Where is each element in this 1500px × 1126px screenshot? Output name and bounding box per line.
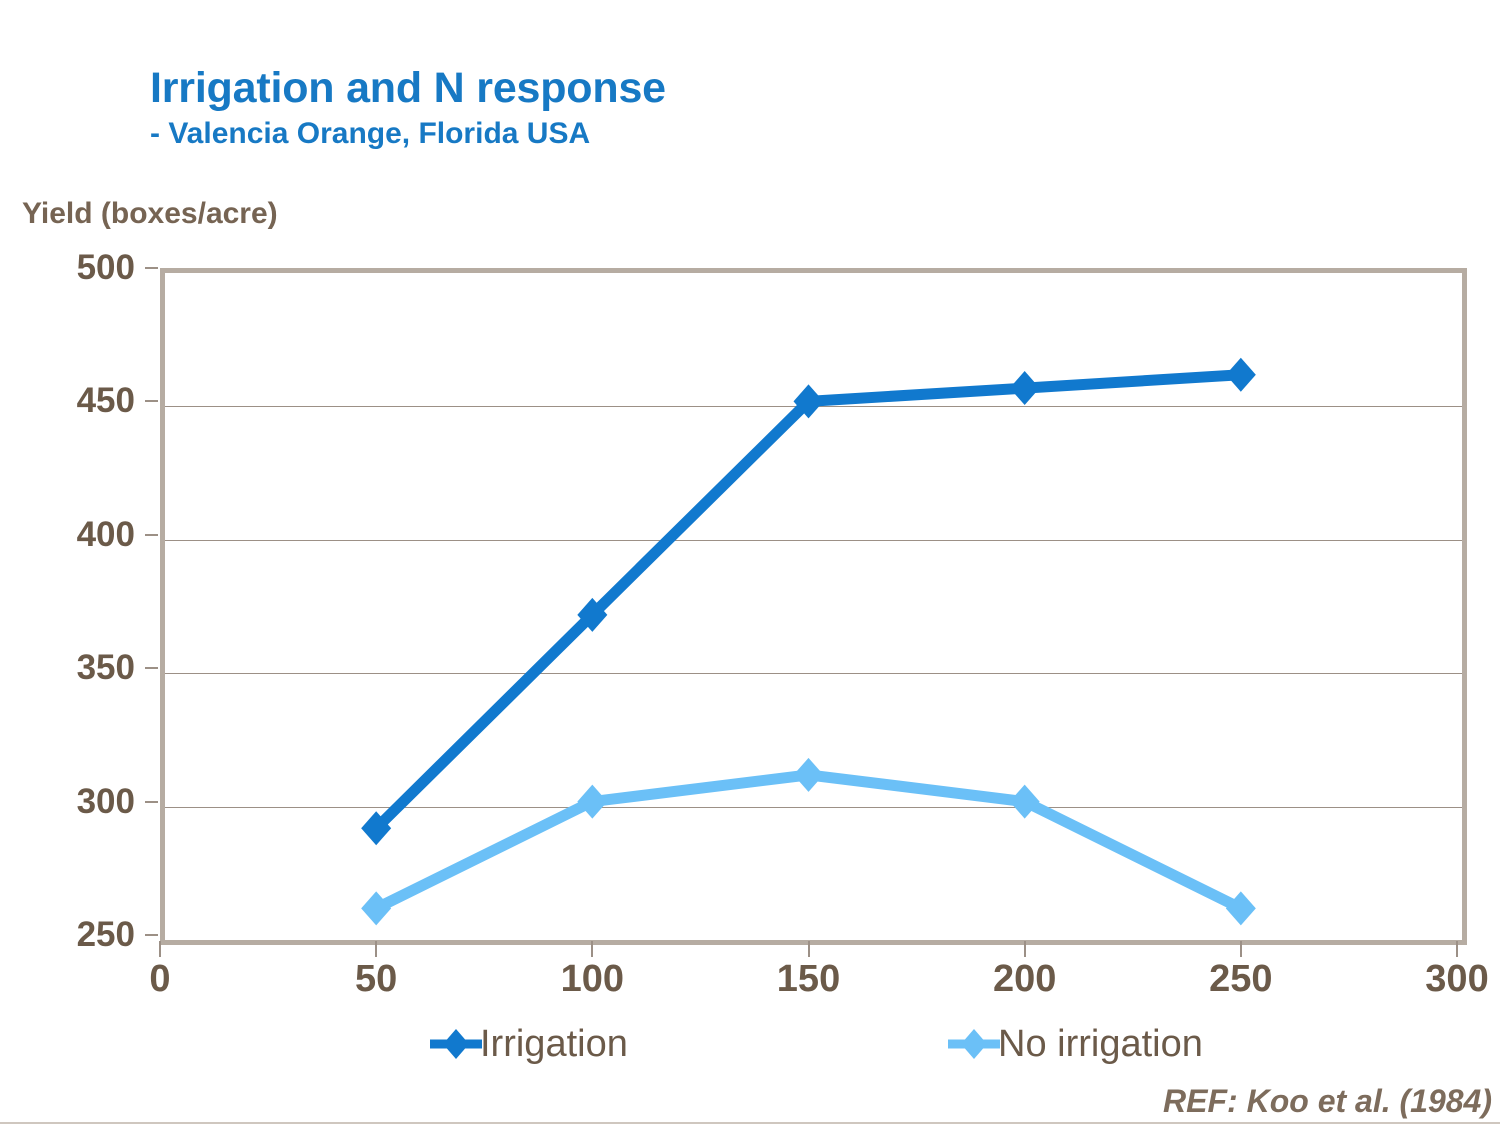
gridline xyxy=(165,540,1462,541)
x-axis-tick-mark xyxy=(1456,941,1458,957)
y-axis-tick-label: 450 xyxy=(5,381,135,421)
y-axis-tick-mark xyxy=(145,667,158,669)
gridline xyxy=(165,807,1462,808)
footer-divider xyxy=(0,1122,1500,1124)
x-axis-tick-label: 0 xyxy=(100,958,220,1001)
y-axis-tick-label: 250 xyxy=(5,915,135,955)
y-axis-tick-mark xyxy=(145,267,158,269)
chart-container: 250300350400450500050100150200250300 xyxy=(0,0,1500,1126)
y-axis-tick-label: 400 xyxy=(5,515,135,555)
y-axis-tick-label: 300 xyxy=(5,782,135,822)
x-axis-tick-label: 50 xyxy=(316,958,436,1001)
x-axis-tick-mark xyxy=(1024,941,1026,957)
x-axis-tick-label: 300 xyxy=(1397,958,1500,1001)
y-axis-tick-label: 350 xyxy=(5,648,135,688)
legend-label: No irrigation xyxy=(998,1023,1203,1066)
x-axis-tick-label: 250 xyxy=(1181,958,1301,1001)
legend-marker-icon xyxy=(430,1027,482,1061)
y-axis-tick-mark xyxy=(145,934,158,936)
legend-item-irrigation[interactable]: Irrigation xyxy=(430,1018,628,1070)
reference-note: REF: Koo et al. (1984) xyxy=(1163,1083,1492,1120)
gridline xyxy=(165,406,1462,407)
x-axis-tick-mark xyxy=(1240,941,1242,957)
gridline xyxy=(165,673,1462,674)
x-axis-tick-mark xyxy=(591,941,593,957)
x-axis-tick-label: 200 xyxy=(965,958,1085,1001)
x-axis-tick-mark xyxy=(159,941,161,957)
y-axis-tick-label: 500 xyxy=(5,248,135,288)
x-axis-tick-mark xyxy=(375,941,377,957)
x-axis-tick-mark xyxy=(808,941,810,957)
legend-item-no-irrigation[interactable]: No irrigation xyxy=(948,1018,1203,1070)
x-axis-tick-label: 150 xyxy=(749,958,869,1001)
chart-legend: IrrigationNo irrigation xyxy=(430,1018,1250,1070)
legend-marker-icon xyxy=(948,1027,1000,1061)
y-axis-tick-mark xyxy=(145,801,158,803)
y-axis-tick-mark xyxy=(145,400,158,402)
plot-area xyxy=(160,268,1467,945)
x-axis-tick-label: 100 xyxy=(532,958,652,1001)
y-axis-tick-mark xyxy=(145,534,158,536)
legend-label: Irrigation xyxy=(480,1023,628,1066)
